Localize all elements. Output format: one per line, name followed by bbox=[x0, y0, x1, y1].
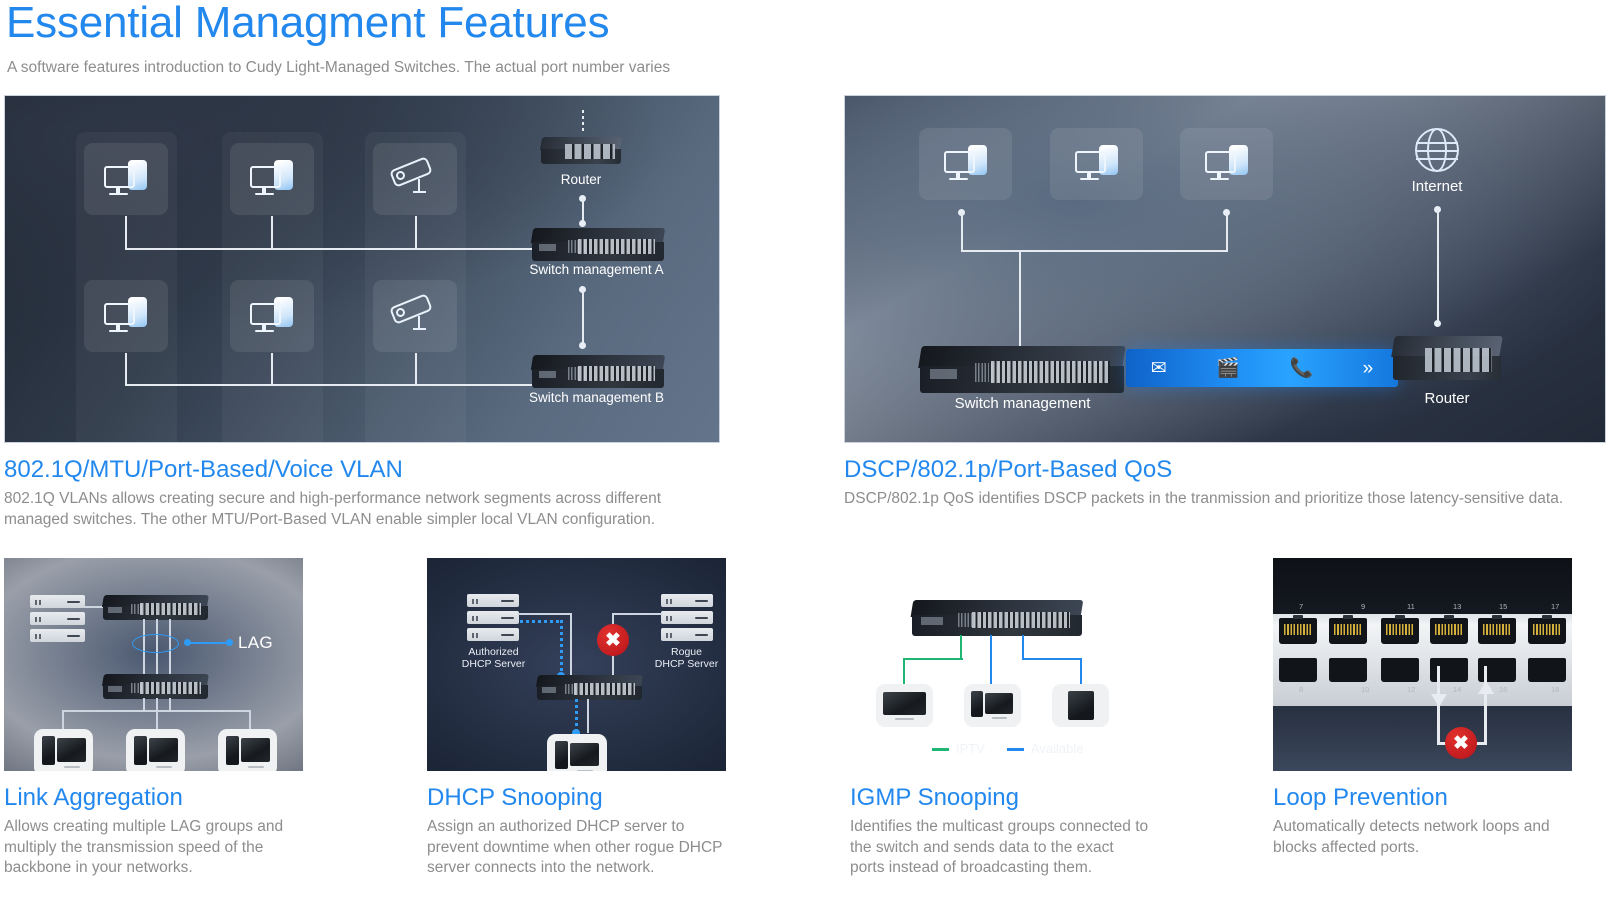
rj45-port-9 bbox=[1329, 618, 1367, 644]
pc-icon bbox=[103, 296, 149, 336]
lag-label: LAG bbox=[238, 633, 273, 653]
pc-tile bbox=[547, 734, 607, 771]
port-number-18: 18 bbox=[1551, 685, 1559, 694]
port-number-16: 16 bbox=[1499, 685, 1507, 694]
vlan-group-1: VLAN ID 1 bbox=[76, 132, 177, 443]
feature-card-loop: 7 9 11 13 15 17 bbox=[1273, 558, 1572, 879]
link-vlan3-bottom bbox=[415, 353, 417, 386]
lag-dot-right bbox=[226, 639, 233, 646]
igmp-diagram-background bbox=[850, 558, 1149, 771]
vlan-1-device-bottom bbox=[84, 280, 168, 352]
port-number-12: 12 bbox=[1407, 685, 1415, 694]
loop-diagram: 7 9 11 13 15 17 bbox=[1273, 558, 1572, 771]
link-client3-drop bbox=[1226, 213, 1228, 251]
dhcp-flow-dotted-v bbox=[560, 620, 563, 675]
authorized-server-label-line1: Authorized bbox=[447, 646, 540, 658]
internet-label: Internet bbox=[1383, 178, 1491, 195]
port-number-8: 8 bbox=[1299, 685, 1303, 694]
lag-leader-line bbox=[187, 642, 230, 644]
feature-page: Essential Managment Features A software … bbox=[0, 0, 1610, 923]
feature-card-igmp: IPTV Available IGMP Snooping Identifies … bbox=[850, 558, 1149, 879]
rogue-server-label-line1: Rogue bbox=[640, 646, 726, 658]
pc-icon bbox=[249, 159, 295, 199]
pc-icon bbox=[1204, 144, 1250, 184]
loop-arrow-up-shaft bbox=[1484, 666, 1487, 744]
link-client1-drop bbox=[961, 213, 963, 251]
iptv-link-v1 bbox=[960, 635, 962, 659]
link-dot bbox=[579, 342, 586, 349]
feature-desc-vlan: 802.1Q VLANs allows creating secure and … bbox=[4, 489, 720, 530]
switch-icon-top bbox=[103, 595, 208, 620]
port-number-13: 13 bbox=[1453, 602, 1461, 611]
switch-icon bbox=[532, 228, 664, 261]
switch-icon bbox=[532, 355, 664, 388]
available-link-h bbox=[1022, 658, 1082, 660]
authorized-server-icon bbox=[467, 594, 519, 642]
router-icon bbox=[541, 137, 621, 164]
link-bus-switch bbox=[1019, 250, 1021, 354]
link-rogue-server bbox=[612, 613, 662, 615]
vlan-2-device-top bbox=[230, 143, 314, 215]
qos-diagram: Switch management ✉ 🎬 📞 » Internet bbox=[844, 95, 1606, 443]
switch-icon bbox=[537, 675, 642, 700]
chevron-right-icon: » bbox=[1363, 359, 1374, 378]
vlan-3-device-bottom bbox=[373, 280, 457, 352]
qos-client-2 bbox=[1050, 128, 1143, 200]
rj45-port-11 bbox=[1381, 618, 1419, 644]
phone-icon: 📞 bbox=[1289, 359, 1313, 378]
feature-card-vlan: VLAN ID 1 VLAN ID 2 bbox=[4, 95, 720, 530]
router-label: Router bbox=[541, 172, 621, 187]
lag-ring bbox=[132, 634, 179, 653]
rj45-port-15 bbox=[1478, 618, 1516, 644]
rj45-port-13 bbox=[1430, 618, 1468, 644]
link-vlan2-bottom bbox=[271, 353, 273, 386]
bottom-feature-row: LAG bbox=[4, 558, 1606, 879]
legend-label-iptv: IPTV bbox=[956, 741, 985, 756]
vlan-3-device-top bbox=[373, 143, 457, 215]
qos-traffic-bar: ✉ 🎬 📞 » bbox=[1126, 349, 1398, 387]
link-auth-down bbox=[570, 613, 572, 675]
pc-icon bbox=[103, 159, 149, 199]
link-router-uplink bbox=[582, 110, 584, 132]
switch-b-label: Switch management B bbox=[494, 390, 699, 405]
link-vlan1-top bbox=[125, 216, 127, 250]
link-switch-pc bbox=[587, 699, 589, 733]
vlan-2-device-bottom bbox=[230, 280, 314, 352]
feature-desc-dhcp: Assign an authorized DHCP server to prev… bbox=[427, 817, 726, 879]
feature-title-qos: DSCP/802.1p/Port-Based QoS bbox=[844, 455, 1606, 485]
rj45-port-8 bbox=[1279, 658, 1317, 682]
igmp-legend: IPTV Available bbox=[932, 741, 1083, 756]
page-subtitle: A software features introduction to Cudy… bbox=[4, 58, 1606, 78]
port-number-9: 9 bbox=[1361, 602, 1365, 611]
rj45-port-14 bbox=[1430, 658, 1468, 682]
mail-icon: ✉ bbox=[1151, 359, 1167, 378]
server-stack-icon bbox=[30, 595, 85, 643]
authorized-server-label-line2: DHCP Server bbox=[447, 658, 540, 670]
vlan-group-3: VLAN ID 3 bbox=[365, 132, 466, 443]
feature-title-igmp: IGMP Snooping bbox=[850, 783, 1149, 813]
link-vlan2-top bbox=[271, 216, 273, 250]
rj45-port-18 bbox=[1528, 658, 1566, 682]
legend-swatch-available bbox=[1007, 748, 1024, 751]
port-number-17: 17 bbox=[1551, 602, 1559, 611]
router-icon bbox=[1393, 336, 1501, 380]
video-icon: 🎬 bbox=[1216, 359, 1240, 378]
available-link-v2 bbox=[1080, 658, 1082, 686]
red-x-icon: ✖ bbox=[1445, 727, 1477, 759]
feature-desc-lag: Allows creating multiple LAG groups and … bbox=[4, 817, 303, 879]
port-number-14: 14 bbox=[1453, 685, 1461, 694]
page-title: Essential Managment Features bbox=[4, 0, 1606, 46]
link-dot bbox=[1434, 320, 1441, 327]
legend-item-available: Available bbox=[1007, 741, 1084, 756]
available-link-center bbox=[990, 635, 992, 686]
legend-item-iptv: IPTV bbox=[932, 741, 985, 756]
feature-title-lag: Link Aggregation bbox=[4, 783, 303, 813]
rj45-port-7 bbox=[1279, 618, 1317, 644]
qos-client-1 bbox=[919, 128, 1012, 200]
switch-icon-bottom bbox=[103, 674, 208, 699]
vlan-group-2: VLAN ID 2 bbox=[222, 132, 323, 443]
switch-icon bbox=[912, 600, 1082, 636]
vlan-diagram: VLAN ID 1 VLAN ID 2 bbox=[4, 95, 720, 443]
feature-desc-qos: DSCP/802.1p QoS identifies DSCP packets … bbox=[844, 489, 1606, 510]
pc-icon bbox=[943, 144, 989, 184]
qos-client-3 bbox=[1180, 128, 1273, 200]
iptv-link-h bbox=[903, 658, 963, 660]
pc-tile bbox=[964, 684, 1021, 727]
legend-swatch-iptv bbox=[932, 748, 949, 751]
loop-arrow-up-head bbox=[1478, 681, 1494, 694]
rj45-port-10 bbox=[1329, 658, 1367, 682]
lag-dot-left bbox=[184, 639, 191, 646]
link-switchA-switchB bbox=[582, 290, 584, 345]
pc-tile-3 bbox=[218, 729, 277, 771]
feature-card-lag: LAG bbox=[4, 558, 303, 879]
loop-arrow-down-head bbox=[1431, 694, 1447, 707]
top-feature-row: VLAN ID 1 VLAN ID 2 bbox=[4, 95, 1606, 530]
feature-desc-loop: Automatically detects network loops and … bbox=[1273, 817, 1572, 858]
pc-icon bbox=[249, 296, 295, 336]
feature-card-dhcp: Authorized DHCP Server Rogue DHCP Server… bbox=[427, 558, 726, 879]
link-bus-bottom bbox=[125, 384, 540, 386]
link-vlan1-bottom bbox=[125, 353, 127, 386]
port-number-11: 11 bbox=[1407, 602, 1415, 611]
pc-icon bbox=[1074, 144, 1120, 184]
tv-tile bbox=[876, 684, 933, 727]
port-number-7: 7 bbox=[1299, 602, 1303, 611]
link-auth-server bbox=[518, 613, 572, 615]
switch-management-label: Switch management bbox=[900, 395, 1145, 412]
link-internet-router bbox=[1437, 210, 1439, 323]
igmp-diagram: IPTV Available bbox=[850, 558, 1149, 771]
link-vlan3-top bbox=[415, 216, 417, 250]
link-bus-top bbox=[125, 248, 540, 250]
feature-title-vlan: 802.1Q/MTU/Port-Based/Voice VLAN bbox=[4, 455, 720, 485]
lag-diagram: LAG bbox=[4, 558, 303, 771]
link-client-3 bbox=[249, 710, 251, 730]
pc-tile-1 bbox=[34, 729, 93, 771]
nas-tile bbox=[1052, 684, 1109, 727]
red-x-icon: ✖ bbox=[597, 624, 629, 656]
globe-icon bbox=[1415, 128, 1459, 172]
feature-desc-igmp: Identifies the multicast groups connecte… bbox=[850, 817, 1149, 879]
available-link-v1 bbox=[1022, 635, 1024, 659]
link-client-bus bbox=[961, 250, 1228, 252]
feature-card-qos: Switch management ✉ 🎬 📞 » Internet bbox=[844, 95, 1606, 530]
switch-icon bbox=[920, 346, 1124, 393]
rj45-port-17 bbox=[1528, 618, 1566, 644]
dhcp-flow-dotted-h bbox=[520, 620, 563, 623]
camera-icon bbox=[389, 296, 441, 336]
rogue-server-icon bbox=[661, 594, 713, 642]
router-label: Router bbox=[1391, 390, 1503, 407]
rogue-server-label-line2: DHCP Server bbox=[640, 658, 726, 670]
link-client-bus bbox=[62, 710, 250, 712]
dhcp-flow-to-client bbox=[575, 699, 578, 733]
dhcp-diagram: Authorized DHCP Server Rogue DHCP Server… bbox=[427, 558, 726, 771]
rj45-port-12 bbox=[1381, 658, 1419, 682]
iptv-link-v2 bbox=[903, 658, 905, 686]
port-number-15: 15 bbox=[1499, 602, 1507, 611]
pc-tile-2 bbox=[126, 729, 185, 771]
feature-title-dhcp: DHCP Snooping bbox=[427, 783, 726, 813]
port-number-10: 10 bbox=[1361, 685, 1369, 694]
link-client-1 bbox=[62, 710, 64, 730]
camera-icon bbox=[389, 159, 441, 199]
legend-label-available: Available bbox=[1031, 741, 1084, 756]
feature-title-loop: Loop Prevention bbox=[1273, 783, 1572, 813]
link-dot bbox=[579, 220, 586, 227]
vlan-1-device-top bbox=[84, 143, 168, 215]
switch-a-label: Switch management A bbox=[494, 262, 699, 277]
